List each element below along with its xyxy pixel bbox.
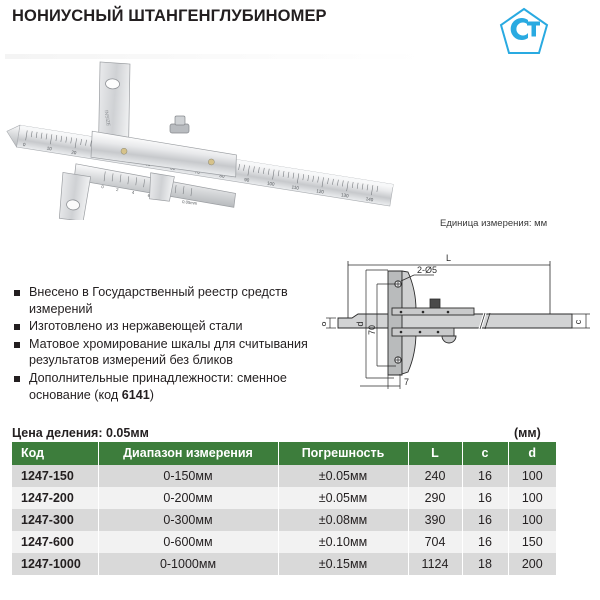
- drawing-label-7: 7: [404, 377, 409, 387]
- cell-accuracy: ±0.10мм: [278, 531, 408, 553]
- drawing-label-70: 70: [367, 325, 377, 335]
- bullet-square-icon: [14, 376, 20, 382]
- table-header-row: Код Диапазон измерения Погрешность L c d: [12, 442, 556, 465]
- cell-code: 1247-600: [12, 531, 98, 553]
- cell-c: 16: [462, 531, 508, 553]
- column-header-L: L: [408, 442, 462, 465]
- feature-text-tail: ): [150, 388, 154, 402]
- cell-d: 100: [508, 465, 556, 487]
- cell-accuracy: ±0.05мм: [278, 465, 408, 487]
- bullet-square-icon: [14, 342, 20, 348]
- column-header-c: c: [462, 442, 508, 465]
- unit-of-measure-note: Единица измерения: мм: [440, 218, 547, 229]
- drawing-label-L: L: [446, 253, 451, 263]
- feature-list: Внесено в Государственный реестр средств…: [14, 284, 344, 404]
- technical-dimension-drawing: L: [322, 248, 598, 398]
- table-row: 1247-150 0-150мм ±0.05мм 240 16 100: [12, 465, 556, 487]
- table-row: 1247-300 0-300мм ±0.08мм 390 16 100: [12, 509, 556, 531]
- cell-range: 0-300мм: [98, 509, 278, 531]
- cell-d: 100: [508, 487, 556, 509]
- cell-code: 1247-200: [12, 487, 98, 509]
- header-divider-band: [5, 54, 425, 59]
- column-header-d: d: [508, 442, 556, 465]
- cell-range: 0-150мм: [98, 465, 278, 487]
- cell-L: 290: [408, 487, 462, 509]
- product-datasheet-page: НОНИУСНЫЙ ШТАНГЕНГЛУБИНОМЕР: [0, 0, 600, 600]
- column-header-range: Диапазон измерения: [98, 442, 278, 465]
- bullet-square-icon: [14, 324, 20, 330]
- cell-L: 390: [408, 509, 462, 531]
- svg-text:0.05mm: 0.05mm: [182, 199, 198, 206]
- cell-L: 1124: [408, 553, 462, 575]
- feature-text: Матовое хромирование шкалы для считывани…: [29, 336, 344, 369]
- gosstandart-certification-logo: [498, 7, 550, 57]
- cell-accuracy: ±0.15мм: [278, 553, 408, 575]
- drawing-label-holes: 2-Ø5: [417, 265, 437, 275]
- cell-c: 18: [462, 553, 508, 575]
- cell-L: 240: [408, 465, 462, 487]
- cell-code: 1247-150: [12, 465, 98, 487]
- column-header-accuracy: Погрешность: [278, 442, 408, 465]
- cell-accuracy: ±0.05мм: [278, 487, 408, 509]
- division-value-label: Цена деления: 0.05мм: [12, 426, 149, 440]
- cell-range: 0-1000мм: [98, 553, 278, 575]
- bullet-square-icon: [14, 290, 20, 296]
- cell-d: 200: [508, 553, 556, 575]
- specification-table: Код Диапазон измерения Погрешность L c d…: [12, 442, 556, 575]
- cell-d: 150: [508, 531, 556, 553]
- page-title: НОНИУСНЫЙ ШТАНГЕНГЛУБИНОМЕР: [12, 7, 327, 26]
- drawing-label-d: d: [355, 321, 365, 326]
- cell-d: 100: [508, 509, 556, 531]
- list-item: Внесено в Государственный реестр средств…: [14, 284, 344, 317]
- table-row: 1247-200 0-200мм ±0.05мм 290 16 100: [12, 487, 556, 509]
- cell-c: 16: [462, 509, 508, 531]
- cell-c: 16: [462, 465, 508, 487]
- list-item: Изготовлено из нержавеющей стали: [14, 318, 344, 335]
- feature-text: Внесено в Государственный реестр средств…: [29, 284, 344, 317]
- product-photo-depth-gauge: 01020 304050 607080 90100110 120130140 I…: [4, 60, 404, 220]
- feature-text: Дополнительные принадлежности: сменное о…: [29, 371, 287, 402]
- cell-accuracy: ±0.08мм: [278, 509, 408, 531]
- table-row: 1247-1000 0-1000мм ±0.15мм 1124 18 200: [12, 553, 556, 575]
- cell-code: 1247-1000: [12, 553, 98, 575]
- list-item: Матовое хромирование шкалы для считывани…: [14, 336, 344, 369]
- cell-range: 0-600мм: [98, 531, 278, 553]
- svg-text:4: 4: [132, 190, 136, 195]
- cell-range: 0-200мм: [98, 487, 278, 509]
- cell-c: 16: [462, 487, 508, 509]
- table-unit-label: (мм): [514, 426, 541, 440]
- cell-code: 1247-300: [12, 509, 98, 531]
- column-header-code: Код: [12, 442, 98, 465]
- list-item: Дополнительные принадлежности: сменное о…: [14, 370, 344, 403]
- table-row: 1247-600 0-600мм ±0.10мм 704 16 150: [12, 531, 556, 553]
- feature-text-accessory: Дополнительные принадлежности: сменное о…: [29, 370, 344, 403]
- cell-L: 704: [408, 531, 462, 553]
- accessory-code: 6141: [122, 388, 150, 402]
- feature-text: Изготовлено из нержавеющей стали: [29, 318, 242, 335]
- drawing-label-c: c: [573, 319, 583, 324]
